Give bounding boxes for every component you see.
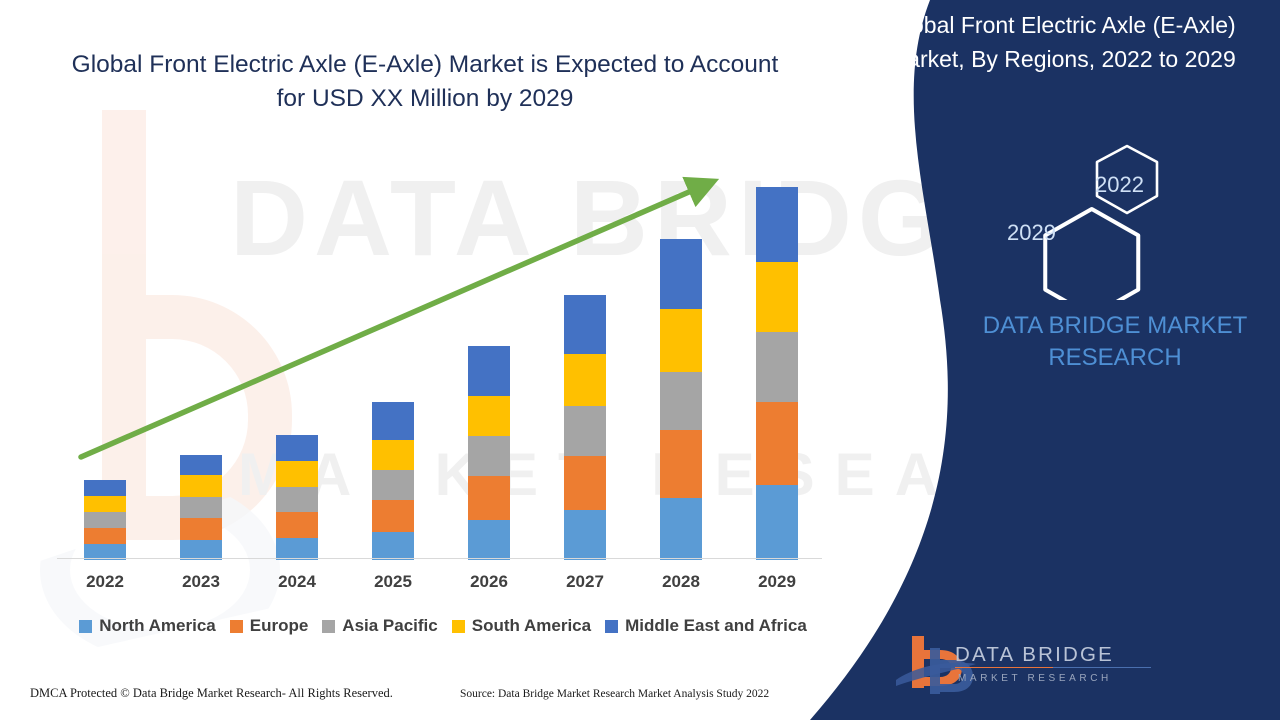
- hexagon-2029-shape: [1045, 209, 1138, 300]
- bar-segment: [660, 239, 702, 309]
- bar-2026: [468, 346, 510, 560]
- bar-segment: [180, 540, 222, 560]
- bar-segment: [276, 538, 318, 560]
- bar-segment: [660, 372, 702, 430]
- bar-segment: [756, 485, 798, 560]
- legend-swatch-icon: [605, 620, 618, 633]
- x-axis-label-2026: 2026: [441, 572, 537, 592]
- copyright-notice: DMCA Protected © Data Bridge Market Rese…: [30, 686, 393, 701]
- bar-segment: [660, 430, 702, 498]
- infographic-canvas: DATA BRIDGE MARKET RESEARCH Global Front…: [0, 0, 1280, 720]
- panel-title: Global Front Electric Axle (E-Axle) Mark…: [888, 8, 1268, 76]
- legend-label: Middle East and Africa: [625, 616, 807, 636]
- bar-segment: [756, 402, 798, 485]
- bar-segment: [372, 532, 414, 560]
- logo-rule-left: [955, 667, 1053, 668]
- legend-swatch-icon: [452, 620, 465, 633]
- bar-2027: [564, 295, 606, 560]
- hexagon-2029-label: 2029: [1007, 220, 1056, 246]
- bar-segment: [564, 406, 606, 456]
- x-axis-line: [57, 558, 822, 559]
- bar-segment: [372, 440, 414, 470]
- brand-name: DATA BRIDGE MARKET RESEARCH: [960, 310, 1270, 374]
- bar-segment: [372, 500, 414, 532]
- legend-item[interactable]: South America: [452, 616, 591, 636]
- bar-2025: [372, 402, 414, 560]
- chart-legend: North AmericaEuropeAsia PacificSouth Ame…: [48, 616, 838, 636]
- legend-item[interactable]: Europe: [230, 616, 309, 636]
- legend-label: South America: [472, 616, 591, 636]
- bar-2023: [180, 455, 222, 560]
- bar-segment: [372, 402, 414, 440]
- legend-label: Europe: [250, 616, 309, 636]
- bar-segment: [180, 497, 222, 518]
- bar-segment: [84, 512, 126, 528]
- bar-segment: [84, 528, 126, 544]
- x-axis-label-2029: 2029: [729, 572, 825, 592]
- bar-segment: [468, 346, 510, 396]
- bar-segment: [180, 518, 222, 540]
- bar-segment: [660, 498, 702, 560]
- hexagon-badges: 2029 2022: [985, 140, 1185, 300]
- hexagon-2022-label: 2022: [1095, 172, 1144, 198]
- bar-segment: [564, 456, 606, 510]
- legend-swatch-icon: [322, 620, 335, 633]
- bar-2022: [84, 480, 126, 560]
- bar-segment: [756, 187, 798, 262]
- bar-segment: [180, 455, 222, 475]
- logo-rule-right: [1053, 667, 1151, 668]
- bar-segment: [756, 262, 798, 332]
- x-axis-label-2022: 2022: [57, 572, 153, 592]
- legend-swatch-icon: [79, 620, 92, 633]
- chart-panel: DATA BRIDGE MARKET RESEARCH Global Front…: [0, 0, 950, 720]
- legend-item[interactable]: Asia Pacific: [322, 616, 437, 636]
- x-axis-labels: 20222023202420252026202720282029: [57, 572, 822, 602]
- bar-segment: [468, 396, 510, 436]
- bar-segment: [276, 512, 318, 538]
- bar-segment: [660, 309, 702, 372]
- bar-segment: [468, 476, 510, 520]
- x-axis-label-2028: 2028: [633, 572, 729, 592]
- bar-segment: [372, 470, 414, 500]
- bar-segment: [276, 461, 318, 487]
- bar-2028: [660, 239, 702, 560]
- legend-swatch-icon: [230, 620, 243, 633]
- bar-segment: [276, 435, 318, 461]
- x-axis-label-2027: 2027: [537, 572, 633, 592]
- legend-label: Asia Pacific: [342, 616, 437, 636]
- x-axis-label-2024: 2024: [249, 572, 345, 592]
- chart-title: Global Front Electric Axle (E-Axle) Mark…: [60, 48, 790, 116]
- bar-segment: [84, 480, 126, 496]
- bar-segment: [468, 436, 510, 476]
- legend-item[interactable]: Middle East and Africa: [605, 616, 807, 636]
- x-axis-label-2023: 2023: [153, 572, 249, 592]
- legend-item[interactable]: North America: [79, 616, 216, 636]
- bar-2029: [756, 187, 798, 560]
- bar-2024: [276, 435, 318, 560]
- bar-segment: [276, 487, 318, 512]
- bar-chart-plot: [57, 150, 822, 560]
- bar-segment: [84, 496, 126, 512]
- bar-segment: [564, 510, 606, 560]
- bar-segment: [180, 475, 222, 497]
- logo-text-sub: MARKET RESEARCH: [958, 673, 1112, 684]
- logo-text-main: DATA BRIDGE: [955, 643, 1114, 667]
- source-notice: Source: Data Bridge Market Research Mark…: [460, 688, 769, 700]
- bar-segment: [564, 354, 606, 406]
- x-axis-label-2025: 2025: [345, 572, 441, 592]
- bar-segment: [756, 332, 798, 402]
- legend-label: North America: [99, 616, 216, 636]
- bar-segment: [468, 520, 510, 560]
- bar-segment: [564, 295, 606, 354]
